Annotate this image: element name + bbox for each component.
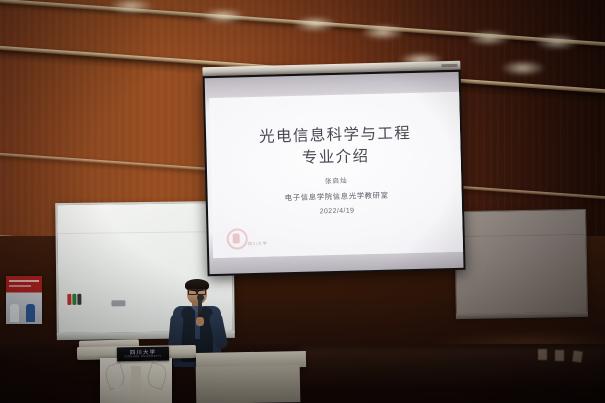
- lectern-nameplate: 四川大学 SICHUAN UNIVERSITY: [117, 347, 169, 362]
- wall-plaque: [538, 349, 547, 360]
- slide-department: 电子信息学院信息光学教研室: [212, 188, 462, 205]
- lecture-hall-photo: 光电信息科学与工程 专业介绍 张启灿 电子信息学院信息光学教研室 2022/4/…: [0, 0, 605, 403]
- microphone-head-icon: [197, 294, 204, 301]
- lectern-ornament-right: [145, 362, 170, 390]
- trim-light-glint: [200, 8, 246, 24]
- projector-screen-frame: 光电信息科学与工程 专业介绍 张启灿 电子信息学院信息光学教研室 2022/4/…: [203, 70, 466, 276]
- wall-plaque: [572, 350, 582, 362]
- marker-black: [77, 294, 81, 305]
- seal-label: 四川大学: [248, 241, 268, 248]
- trim-light-glint: [466, 30, 512, 46]
- lectern-nameplate-en: SICHUAN UNIVERSITY: [117, 355, 169, 359]
- speaker-hand: [196, 317, 204, 326]
- wall-socket: [114, 382, 121, 391]
- projector-screen: 光电信息科学与工程 专业介绍 张启灿 电子信息学院信息光学教研室 2022/4/…: [202, 61, 465, 279]
- whiteboard-eraser: [111, 300, 125, 306]
- lectern-center-panel: [131, 366, 141, 396]
- marker-green: [72, 294, 76, 305]
- trim-light-glint: [292, 16, 338, 32]
- poster-headline-bar: [9, 280, 39, 282]
- wall-plaque: [555, 350, 564, 361]
- poster-figure: [10, 304, 19, 322]
- slide-date: 2022/4/19: [212, 205, 462, 218]
- marker-red: [67, 294, 71, 305]
- poster-subline-bar: [9, 285, 31, 287]
- slide-presenter-name: 张启灿: [211, 172, 461, 188]
- projector-screen-fabric: 光电信息科学与工程 专业介绍 张启灿 电子信息学院信息光学教研室 2022/4/…: [205, 72, 464, 274]
- trim-light-glint: [534, 34, 580, 50]
- poster-figure: [26, 304, 35, 322]
- university-seal-icon: [226, 228, 248, 250]
- whiteboard-right: [454, 209, 588, 315]
- whiteboard-seam: [58, 231, 232, 234]
- glasses-icon: [188, 289, 206, 293]
- whiteboard-seam: [456, 234, 586, 237]
- lectern: 四川大学 SICHUAN UNIVERSITY: [77, 340, 196, 403]
- lectern-body: [100, 358, 172, 403]
- wall-poster: [6, 276, 42, 324]
- trim-light-glint: [500, 60, 546, 76]
- roller-end-cap: [441, 64, 457, 67]
- trim-light-glint: [360, 24, 406, 40]
- front-desk-front: [196, 365, 301, 403]
- projected-slide: 光电信息科学与工程 专业介绍 张启灿 电子信息学院信息光学教研室 2022/4/…: [209, 92, 463, 258]
